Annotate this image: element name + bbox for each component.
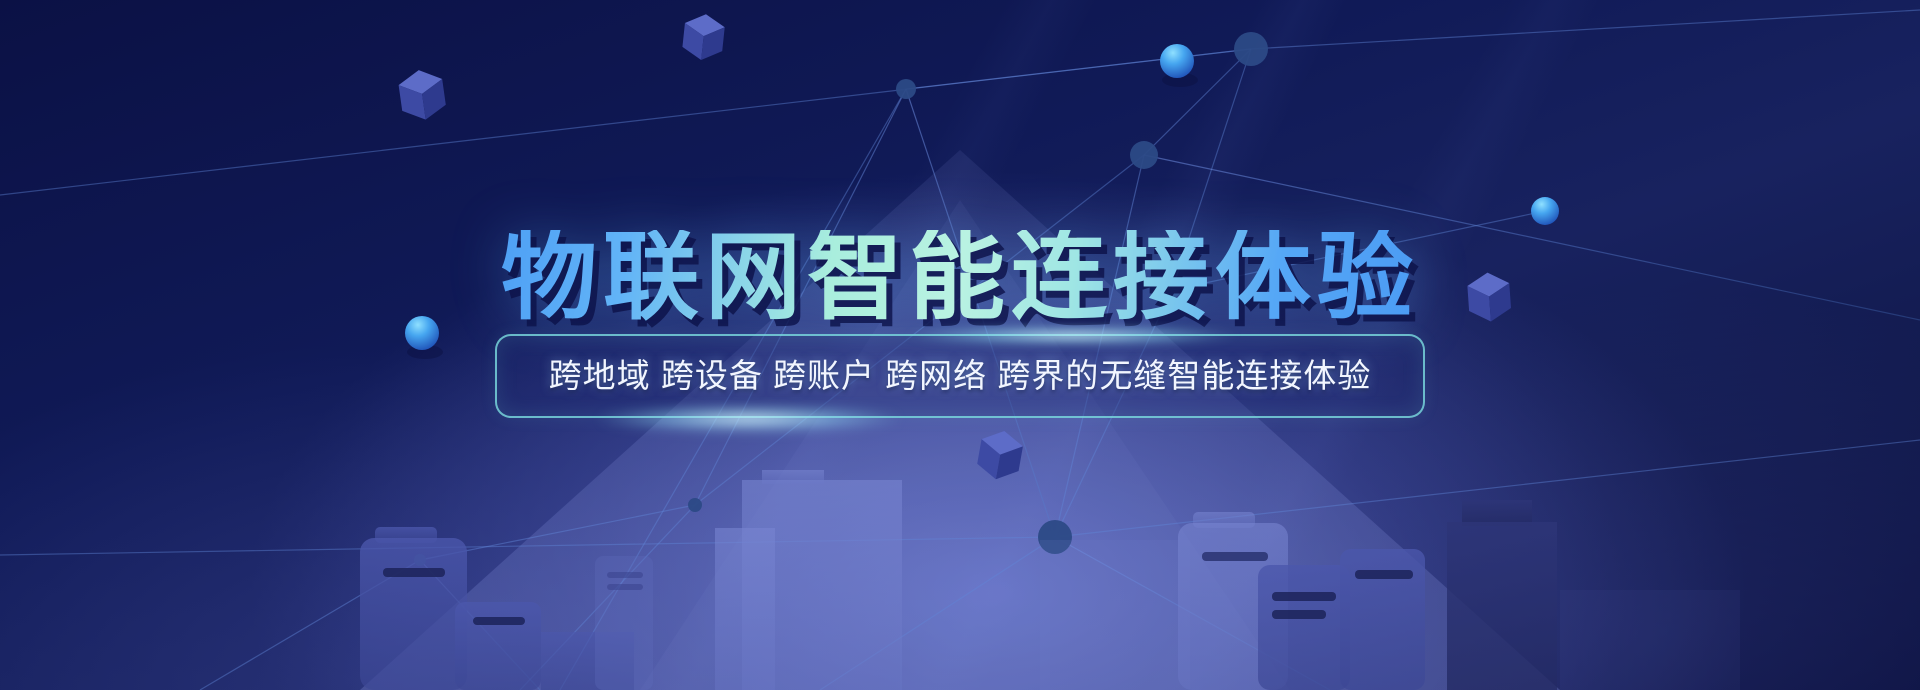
subtitle-text: 跨地域 跨设备 跨账户 跨网络 跨界的无缝智能连接体验	[497, 336, 1423, 416]
cube-mid-upper	[681, 12, 726, 62]
sphere-top-center	[1160, 44, 1194, 78]
subtitle-pill: 跨地域 跨设备 跨账户 跨网络 跨界的无缝智能连接体验	[495, 334, 1425, 418]
hero-subtitle-container: 跨地域 跨设备 跨账户 跨网络 跨界的无缝智能连接体验	[0, 334, 1920, 418]
cube-left-upper	[397, 67, 448, 123]
node-b	[1130, 141, 1158, 169]
node-c	[896, 79, 916, 99]
page-title: 物联网智能连接体验	[501, 230, 1419, 326]
node-f	[688, 498, 702, 512]
iot-hero-banner: 物联网智能连接体验 跨地域 跨设备 跨账户 跨网络 跨界的无缝智能连接体验	[0, 0, 1920, 690]
node-a	[1234, 32, 1268, 66]
